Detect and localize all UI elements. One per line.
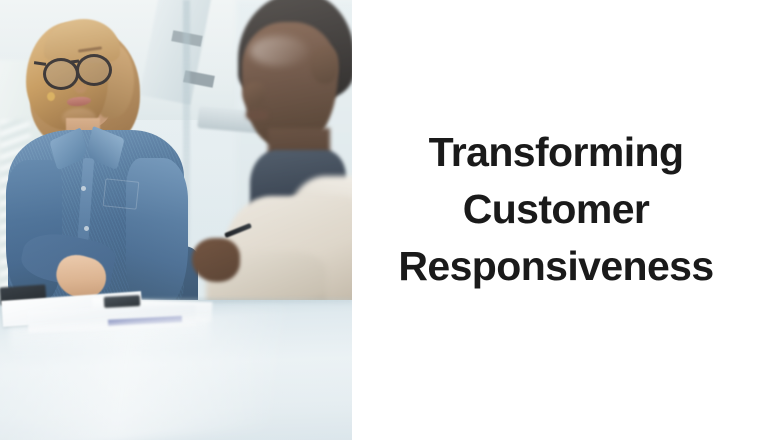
woman-nose <box>74 81 87 93</box>
content-panel: Transforming Customer Responsiveness CIT… <box>352 0 760 440</box>
woman-shirt-button-mid <box>84 226 89 231</box>
headline-line-2: Customer <box>352 181 760 238</box>
man-ear <box>310 46 338 84</box>
man-forehead-highlight <box>250 36 308 66</box>
man-hand <box>192 238 240 282</box>
man-nose <box>243 82 265 106</box>
table-phone <box>104 295 141 308</box>
headline-line-1: Transforming <box>352 124 760 181</box>
man-lips <box>246 110 268 120</box>
woman-earring <box>47 92 55 101</box>
woman-shirt-button-top <box>81 186 86 191</box>
headline: Transforming Customer Responsiveness <box>352 124 760 295</box>
slide-canvas: Transforming Customer Responsiveness CIT… <box>0 0 760 440</box>
hero-photo <box>0 0 352 440</box>
headline-line-3: Responsiveness <box>352 238 760 295</box>
woman-shirt-pocket <box>103 178 140 209</box>
